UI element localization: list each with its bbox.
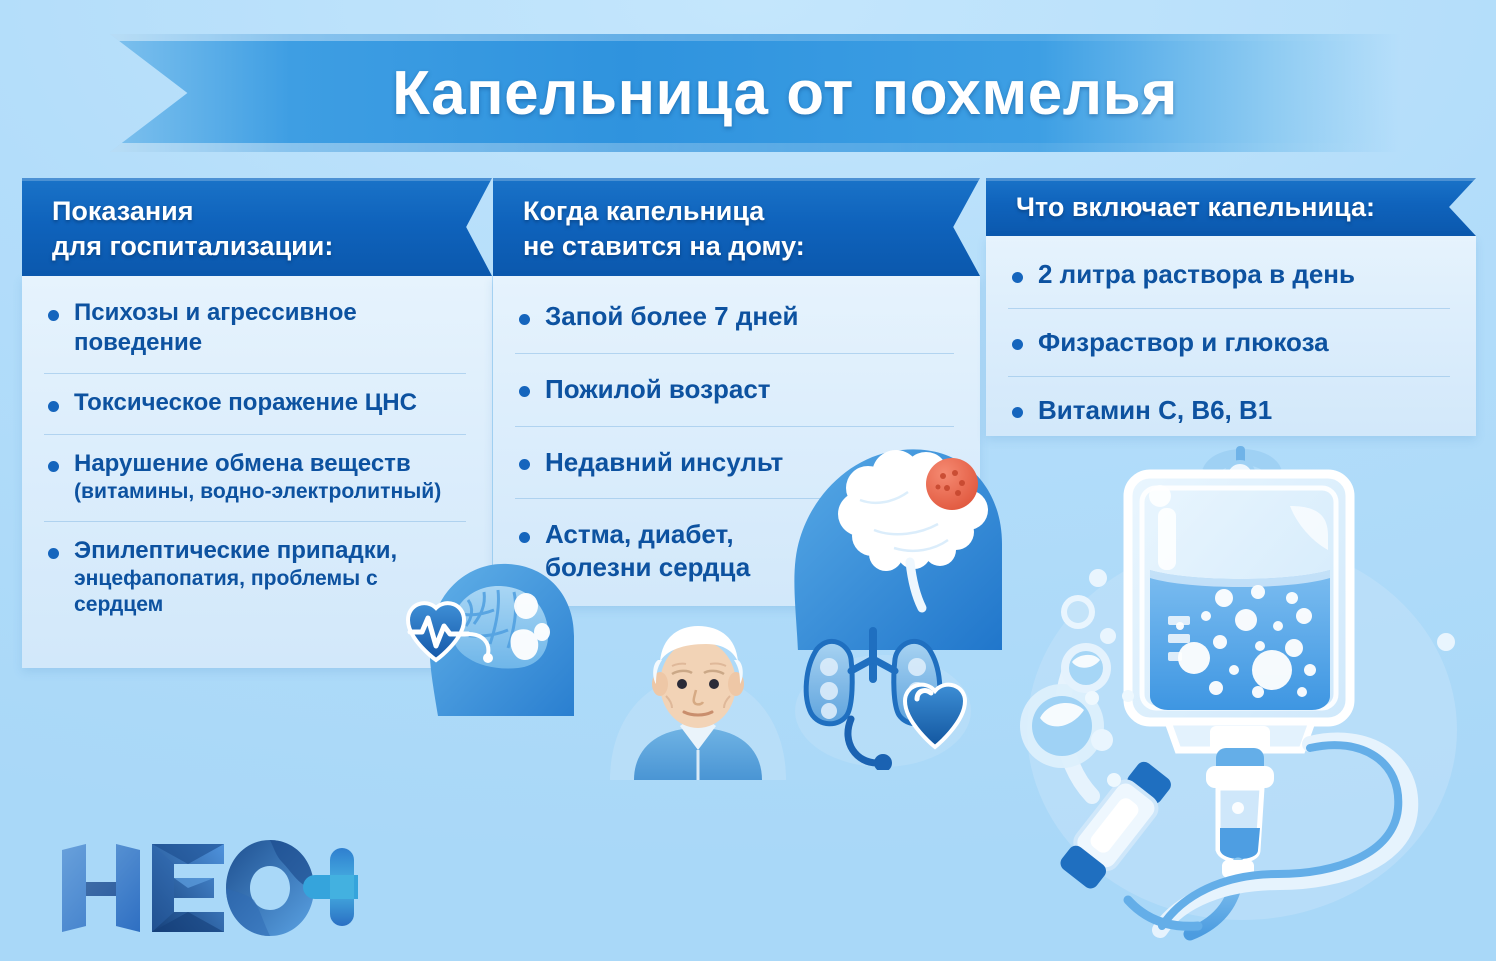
list-item-text: Физраствор и глюкоза xyxy=(1038,326,1329,359)
heading-highlight xyxy=(986,178,1476,181)
bullet-dot-icon xyxy=(48,310,59,321)
panel-indications: Показания для госпитализации: Психозы и … xyxy=(22,178,492,668)
panel-heading-indications: Показания для госпитализации: xyxy=(22,178,492,276)
lungs-heart-stethoscope-icon xyxy=(795,615,975,770)
panel-body-contraindications: Запой более 7 дней Пожилой возраст Недав… xyxy=(493,276,980,606)
list-item-text: Эпилептические припадки, xyxy=(74,537,397,564)
heading-line-2: для госпитализации: xyxy=(52,229,470,264)
list-item: Нарушение обмена веществ (витамины, водн… xyxy=(44,434,466,521)
list-item-text: 2 литра раствора в день xyxy=(1038,258,1355,291)
panel-contraindications: Когда капельница не ставится на дому: За… xyxy=(493,178,980,606)
list-item: Эпилептические припадки, энцефапопатия, … xyxy=(44,521,466,634)
panel-body-contents: 2 литра раствора в день Физраствор и глю… xyxy=(986,236,1476,436)
list-item: Пожилой возраст xyxy=(515,353,954,426)
list-item: Физраствор и глюкоза xyxy=(1008,308,1450,376)
bullet-dot-icon xyxy=(48,401,59,412)
list-item: Витамин C, B6, B1 xyxy=(1008,376,1450,444)
list-item-text: Пожилой возраст xyxy=(545,373,771,406)
panel-heading-contents: Что включает капельница: xyxy=(986,178,1476,236)
bullet-dot-icon xyxy=(519,314,530,325)
bullet-dot-icon xyxy=(1012,407,1023,418)
list-item-block: Нарушение обмена веществ (витамины, водн… xyxy=(74,449,441,506)
panel-heading-contraindications: Когда капельница не ставится на дому: xyxy=(493,178,980,276)
list-item-text: Психозы и агрессивное поведение xyxy=(74,298,466,358)
bullet-dot-icon xyxy=(48,461,59,472)
heading-highlight xyxy=(22,178,492,181)
list-item-text: Токсическое поражение ЦНС xyxy=(74,388,417,418)
contents-list: 2 литра раствора в день Физраствор и глю… xyxy=(1008,254,1450,443)
brand-logo xyxy=(58,836,358,941)
bullet-dot-icon xyxy=(519,386,530,397)
list-item-text: Недавний инсульт xyxy=(545,446,783,479)
panel-body-indications: Психозы и агрессивное поведение Токсичес… xyxy=(22,276,492,668)
list-item-text: Астма, диабет, xyxy=(545,519,734,549)
list-item: Психозы и агрессивное поведение xyxy=(44,294,466,373)
list-item-block: Астма, диабет, болезни сердца xyxy=(545,518,750,584)
contraindications-list: Запой более 7 дней Пожилой возраст Недав… xyxy=(515,294,954,604)
list-item-block: Эпилептические припадки, энцефапопатия, … xyxy=(74,536,466,619)
bullet-dot-icon xyxy=(48,548,59,559)
heading-line-1: Когда капельница xyxy=(523,194,958,229)
list-item: Запой более 7 дней xyxy=(515,294,954,353)
heading-line-1: Что включает капельница: xyxy=(1016,190,1454,225)
list-item-subtext: (витамины, водно-электролитный) xyxy=(74,479,441,506)
list-item: Недавний инсульт xyxy=(515,426,954,499)
bullet-dot-icon xyxy=(1012,272,1023,283)
bullet-dot-icon xyxy=(1012,339,1023,350)
heading-highlight xyxy=(493,178,980,181)
list-item-text: Нарушение обмена веществ xyxy=(74,450,411,477)
infographic-canvas: Капельница от похмелья Показания для гос… xyxy=(0,0,1496,961)
elderly-person-icon xyxy=(608,600,788,780)
list-item: 2 литра раствора в день xyxy=(1008,254,1450,308)
page-title: Капельница от похмелья xyxy=(110,34,1400,152)
indications-list: Психозы и агрессивное поведение Токсичес… xyxy=(44,294,466,634)
heading-line-2: не ставится на дому: xyxy=(523,229,958,264)
list-item-subtext: энцефапопатия, проблемы с сердцем xyxy=(74,566,466,619)
bullet-dot-icon xyxy=(519,532,530,543)
bullet-dot-icon xyxy=(519,459,530,470)
iv-drip-bag-icon xyxy=(1010,430,1490,960)
panel-contents: Что включает капельница: 2 литра раствор… xyxy=(986,178,1476,436)
list-item: Астма, диабет, болезни сердца xyxy=(515,498,954,604)
list-item: Токсическое поражение ЦНС xyxy=(44,373,466,433)
heading-line-1: Показания xyxy=(52,194,470,229)
list-item-text: Витамин C, B6, B1 xyxy=(1038,394,1272,427)
list-item-subtext: болезни сердца xyxy=(545,551,750,584)
list-item-text: Запой более 7 дней xyxy=(545,300,799,333)
